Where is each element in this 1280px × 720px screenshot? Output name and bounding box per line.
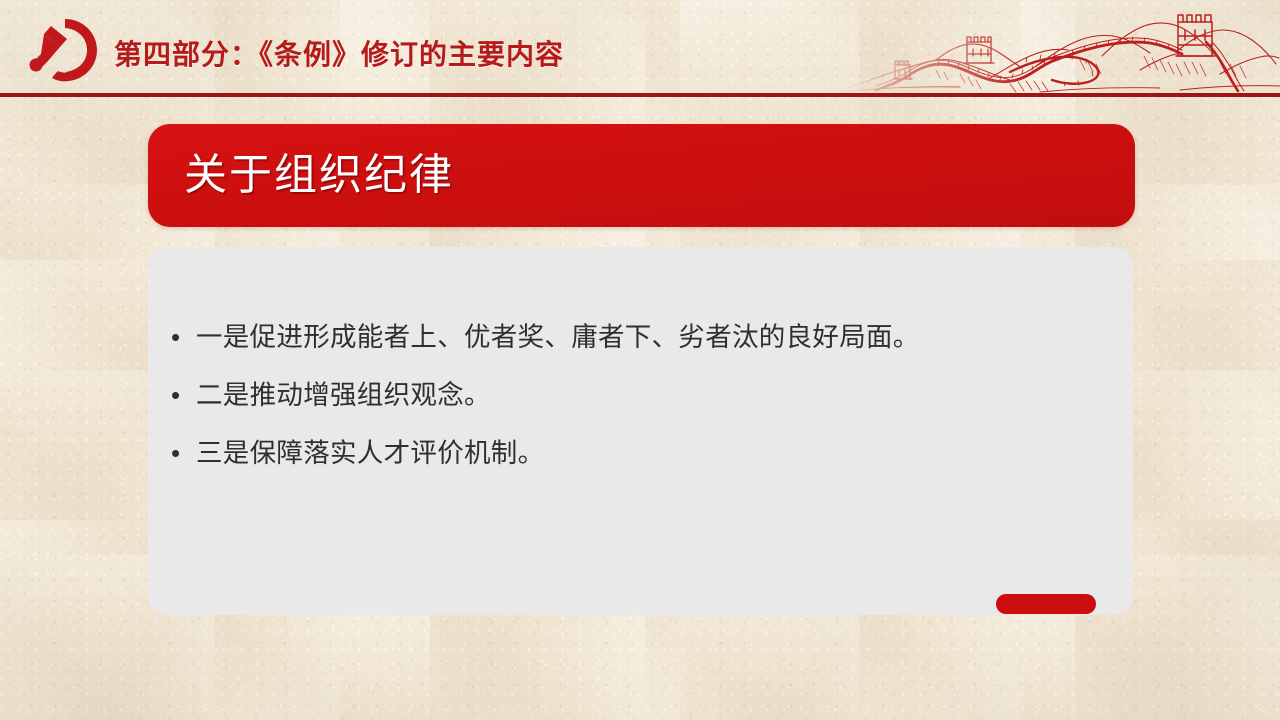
content-card: • 一是促进形成能者上、优者奖、庸者下、劣者汰的良好局面。 • 二是推动增强组织… [148,247,1133,615]
slide-canvas: 第四部分：《条例》修订的主要内容 [0,0,1280,720]
hammer-and-sickle-icon [24,17,100,83]
header-divider [0,93,1280,97]
section-title-text: 关于组织纪律 [184,154,454,197]
list-item: • 三是保障落实人才评价机制。 [170,435,1115,471]
list-item: • 二是推动增强组织观念。 [170,377,1115,413]
bullet-marker-icon: • [170,377,196,413]
bullet-list: • 一是促进形成能者上、优者奖、庸者下、劣者汰的良好局面。 • 二是推动增强组织… [170,319,1115,493]
page-title: 第四部分：《条例》修订的主要内容 [114,41,564,69]
list-item: • 一是促进形成能者上、优者奖、庸者下、劣者汰的良好局面。 [170,319,1115,355]
slide-header: 第四部分：《条例》修订的主要内容 [0,0,1280,96]
bullet-marker-icon: • [170,435,196,471]
bullet-marker-icon: • [170,319,196,355]
list-item-text: 二是推动增强组织观念。 [196,377,1115,413]
list-item-text: 一是促进形成能者上、优者奖、庸者下、劣者汰的良好局面。 [196,319,1115,355]
accent-pill-decoration [996,594,1096,614]
section-title-banner: 关于组织纪律 [148,124,1135,227]
great-wall-illustration [840,0,1280,94]
list-item-text: 三是保障落实人才评价机制。 [196,435,1115,471]
